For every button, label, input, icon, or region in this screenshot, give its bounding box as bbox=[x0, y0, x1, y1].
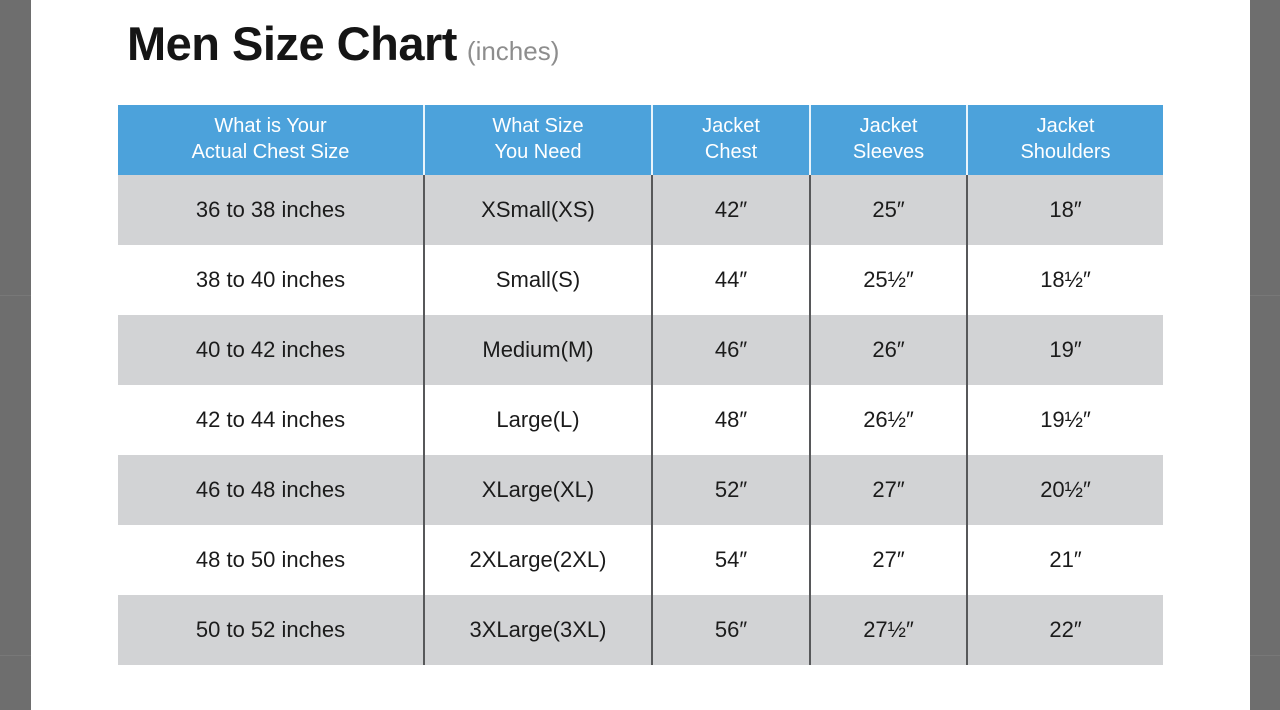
header-line-1: What is Your bbox=[214, 114, 326, 140]
size-chart-table: What is Your Actual Chest Size What Size… bbox=[118, 105, 1163, 665]
cell-size: Small(S) bbox=[425, 245, 653, 315]
cell-jacket-shoulders: 22″ bbox=[968, 595, 1163, 665]
cell-size: XSmall(XS) bbox=[425, 175, 653, 245]
table-row: 40 to 42 inches Medium(M) 46″ 26″ 19″ bbox=[118, 315, 1163, 385]
cell-jacket-chest: 42″ bbox=[653, 175, 811, 245]
title-unit-text: (inches) bbox=[467, 38, 559, 64]
cell-size: 3XLarge(3XL) bbox=[425, 595, 653, 665]
cell-jacket-chest: 54″ bbox=[653, 525, 811, 595]
cell-jacket-shoulders: 18″ bbox=[968, 175, 1163, 245]
header-line-2: Chest bbox=[705, 140, 757, 166]
cell-size: XLarge(XL) bbox=[425, 455, 653, 525]
cell-jacket-shoulders: 18½″ bbox=[968, 245, 1163, 315]
size-chart-page: Men Size Chart (inches) What is Your Act… bbox=[31, 0, 1250, 710]
cell-jacket-chest: 46″ bbox=[653, 315, 811, 385]
cell-chest-range: 36 to 38 inches bbox=[118, 175, 425, 245]
column-header-jacket-chest: Jacket Chest bbox=[653, 105, 811, 175]
cell-jacket-sleeves: 27″ bbox=[811, 455, 968, 525]
cell-jacket-chest: 56″ bbox=[653, 595, 811, 665]
header-line-2: Shoulders bbox=[1020, 140, 1110, 166]
header-line-1: What Size bbox=[492, 114, 583, 140]
column-header-size-needed: What Size You Need bbox=[425, 105, 653, 175]
letterbox-left bbox=[0, 0, 31, 710]
cell-size: Medium(M) bbox=[425, 315, 653, 385]
cell-jacket-chest: 52″ bbox=[653, 455, 811, 525]
table-row: 48 to 50 inches 2XLarge(2XL) 54″ 27″ 21″ bbox=[118, 525, 1163, 595]
cell-size: Large(L) bbox=[425, 385, 653, 455]
table-row: 42 to 44 inches Large(L) 48″ 26½″ 19½″ bbox=[118, 385, 1163, 455]
cell-size: 2XLarge(2XL) bbox=[425, 525, 653, 595]
table-row: 38 to 40 inches Small(S) 44″ 25½″ 18½″ bbox=[118, 245, 1163, 315]
table-row: 50 to 52 inches 3XLarge(3XL) 56″ 27½″ 22… bbox=[118, 595, 1163, 665]
cell-jacket-sleeves: 27″ bbox=[811, 525, 968, 595]
table-row: 36 to 38 inches XSmall(XS) 42″ 25″ 18″ bbox=[118, 175, 1163, 245]
cell-jacket-sleeves: 26½″ bbox=[811, 385, 968, 455]
cell-jacket-chest: 48″ bbox=[653, 385, 811, 455]
header-line-1: Jacket bbox=[702, 114, 760, 140]
cell-chest-range: 38 to 40 inches bbox=[118, 245, 425, 315]
cell-jacket-sleeves: 25″ bbox=[811, 175, 968, 245]
column-header-actual-chest-size: What is Your Actual Chest Size bbox=[118, 105, 425, 175]
cell-jacket-sleeves: 27½″ bbox=[811, 595, 968, 665]
cell-chest-range: 40 to 42 inches bbox=[118, 315, 425, 385]
column-header-jacket-shoulders: Jacket Shoulders bbox=[968, 105, 1163, 175]
cell-jacket-chest: 44″ bbox=[653, 245, 811, 315]
header-line-1: Jacket bbox=[860, 114, 918, 140]
cell-jacket-sleeves: 26″ bbox=[811, 315, 968, 385]
cell-jacket-shoulders: 21″ bbox=[968, 525, 1163, 595]
header-line-2: You Need bbox=[494, 140, 581, 166]
header-line-1: Jacket bbox=[1037, 114, 1095, 140]
cell-chest-range: 42 to 44 inches bbox=[118, 385, 425, 455]
cell-jacket-shoulders: 19″ bbox=[968, 315, 1163, 385]
header-line-2: Actual Chest Size bbox=[192, 140, 350, 166]
cell-chest-range: 46 to 48 inches bbox=[118, 455, 425, 525]
table-header-row: What is Your Actual Chest Size What Size… bbox=[118, 105, 1163, 175]
cell-chest-range: 48 to 50 inches bbox=[118, 525, 425, 595]
cell-jacket-shoulders: 20½″ bbox=[968, 455, 1163, 525]
cell-jacket-shoulders: 19½″ bbox=[968, 385, 1163, 455]
cell-jacket-sleeves: 25½″ bbox=[811, 245, 968, 315]
table-row: 46 to 48 inches XLarge(XL) 52″ 27″ 20½″ bbox=[118, 455, 1163, 525]
letterbox-right bbox=[1250, 0, 1280, 710]
column-header-jacket-sleeves: Jacket Sleeves bbox=[811, 105, 968, 175]
page-title: Men Size Chart (inches) bbox=[127, 20, 559, 67]
header-line-2: Sleeves bbox=[853, 140, 924, 166]
cell-chest-range: 50 to 52 inches bbox=[118, 595, 425, 665]
title-main-text: Men Size Chart bbox=[127, 20, 457, 67]
